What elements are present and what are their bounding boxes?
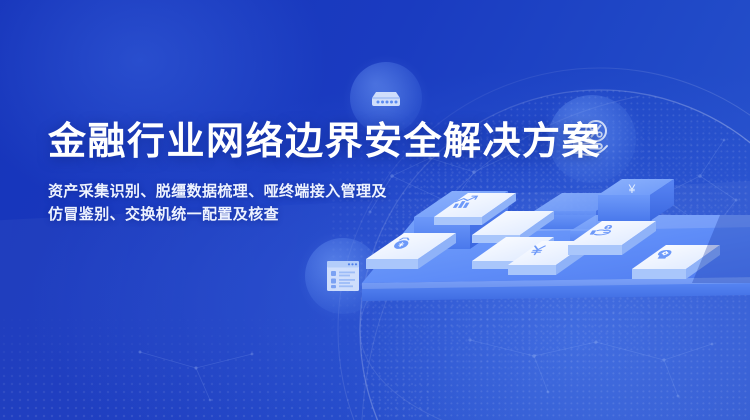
page-subtitle: 资产采集识别、脱缰数据梳理、哑终端接入管理及 仿冒鉴别、交换机统一配置及核查	[48, 180, 518, 226]
headline-block: 金融行业网络边界安全解决方案 资产采集识别、脱缰数据梳理、哑终端接入管理及 仿冒…	[48, 118, 518, 226]
yen-cube: ¥	[598, 179, 674, 221]
subtitle-line-1: 资产采集识别、脱缰数据梳理、哑终端接入管理及	[48, 180, 518, 203]
network-switch-icon	[366, 78, 406, 118]
page-title: 金融行业网络边界安全解决方案	[48, 118, 518, 166]
banner-root: 金融行业网络边界安全解决方案 资产采集识别、脱缰数据梳理、哑终端接入管理及 仿冒…	[0, 0, 750, 420]
yen-symbol-icon: ¥	[628, 182, 636, 196]
subtitle-line-2: 仿冒鉴别、交换机统一配置及核查	[48, 203, 518, 226]
